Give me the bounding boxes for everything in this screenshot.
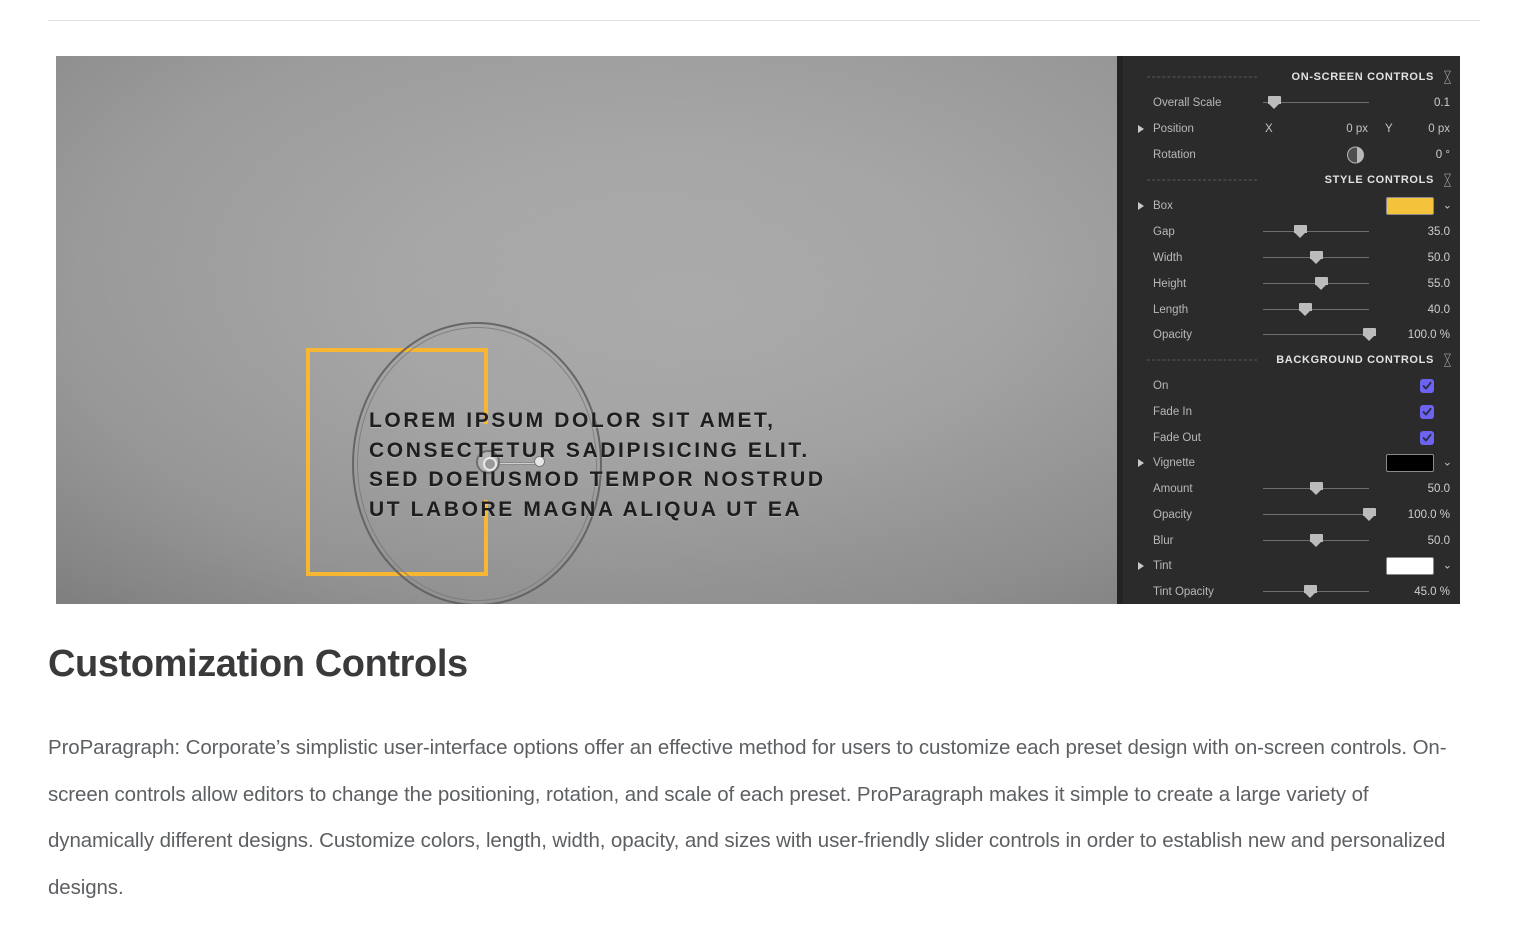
row-fade-out[interactable]: Fade Out xyxy=(1123,425,1460,451)
inspector-body: ON-SCREEN CONTROLS ▽△ Overall Scale 0.1 … xyxy=(1123,56,1460,604)
row-value[interactable]: 0 ° xyxy=(1436,149,1450,161)
chevron-down-icon[interactable]: ⌄ xyxy=(1443,457,1452,468)
fade-out-checkbox[interactable] xyxy=(1420,431,1434,445)
length-slider[interactable] xyxy=(1263,303,1369,317)
disclosure-triangle-icon[interactable] xyxy=(1138,202,1144,210)
row-value[interactable]: 0.1 xyxy=(1434,97,1450,109)
row-on[interactable]: On xyxy=(1123,373,1460,399)
row-label: Opacity xyxy=(1153,509,1192,521)
row-value[interactable]: 40.0 xyxy=(1428,304,1450,316)
chevron-down-icon[interactable]: ⌄ xyxy=(1443,200,1452,211)
inspector-panel: ON-SCREEN CONTROLS ▽△ Overall Scale 0.1 … xyxy=(1117,56,1460,604)
preview-text-line: LOREM IPSUM DOLOR SIT AMET, xyxy=(369,406,989,436)
section-header-background-controls[interactable]: BACKGROUND CONTROLS ▽△ xyxy=(1123,347,1460,373)
row-label: Position xyxy=(1153,123,1194,135)
section-title: ON-SCREEN CONTROLS xyxy=(1292,71,1434,83)
row-label: Rotation xyxy=(1153,149,1196,161)
disclosure-triangle-icon[interactable] xyxy=(1138,125,1144,133)
row-value[interactable]: 45.0 % xyxy=(1414,586,1450,598)
section-header-style-controls[interactable]: STYLE CONTROLS ▽△ xyxy=(1123,167,1460,193)
row-value[interactable]: 50.0 xyxy=(1428,535,1450,547)
position-y-value[interactable]: 0 px xyxy=(1428,123,1450,135)
row-label: Fade In xyxy=(1153,406,1192,418)
section-rule xyxy=(1147,359,1257,360)
row-label: Amount xyxy=(1153,483,1193,495)
row-value[interactable]: 100.0 % xyxy=(1408,329,1450,341)
row-label: Length xyxy=(1153,304,1188,316)
row-value[interactable]: 55.0 xyxy=(1428,278,1450,290)
row-value[interactable]: 50.0 xyxy=(1428,483,1450,495)
row-value[interactable]: 100.0 % xyxy=(1408,509,1450,521)
preview-text-line: CONSECTETUR SADIPISICING ELIT. xyxy=(369,436,989,466)
page-title: Customization Controls xyxy=(48,643,468,686)
row-label: Gap xyxy=(1153,226,1175,238)
row-box[interactable]: Box ⌄ xyxy=(1123,193,1460,219)
row-tint-opacity[interactable]: Tint Opacity 45.0 % xyxy=(1123,579,1460,604)
preview-text-line: UT LABORE MAGNA ALIQUA UT EA xyxy=(369,495,989,525)
row-fade-in[interactable]: Fade In xyxy=(1123,399,1460,425)
overall-scale-slider[interactable] xyxy=(1263,96,1369,110)
row-tint[interactable]: Tint ⌄ xyxy=(1123,553,1460,579)
preview-text-block: LOREM IPSUM DOLOR SIT AMET, CONSECTETUR … xyxy=(369,406,989,524)
fade-in-checkbox[interactable] xyxy=(1420,405,1434,419)
section-header-on-screen-controls[interactable]: ON-SCREEN CONTROLS ▽△ xyxy=(1123,64,1460,90)
position-x-value[interactable]: 0 px xyxy=(1308,123,1368,135)
row-label: Tint xyxy=(1153,560,1172,572)
background-opacity-slider[interactable] xyxy=(1263,508,1369,522)
height-slider[interactable] xyxy=(1263,277,1369,291)
gap-slider[interactable] xyxy=(1263,225,1369,239)
row-value[interactable]: 50.0 xyxy=(1428,252,1450,264)
row-label: Blur xyxy=(1153,535,1173,547)
row-blur[interactable]: Blur 50.0 xyxy=(1123,528,1460,554)
row-width[interactable]: Width 50.0 xyxy=(1123,245,1460,271)
row-label: Vignette xyxy=(1153,457,1195,469)
blur-slider[interactable] xyxy=(1263,534,1369,548)
row-label: Width xyxy=(1153,252,1182,264)
preview-image: LOREM IPSUM DOLOR SIT AMET, CONSECTETUR … xyxy=(56,56,1460,604)
row-overall-scale[interactable]: Overall Scale 0.1 xyxy=(1123,90,1460,116)
chevron-down-icon[interactable]: ⌄ xyxy=(1443,560,1452,571)
tint-opacity-slider[interactable] xyxy=(1263,585,1369,599)
section-rule xyxy=(1147,76,1257,77)
row-vignette[interactable]: Vignette ⌄ xyxy=(1123,450,1460,476)
row-label: Overall Scale xyxy=(1153,97,1221,109)
row-value[interactable]: 35.0 xyxy=(1428,226,1450,238)
rotation-dial[interactable] xyxy=(1347,146,1364,163)
section-title: STYLE CONTROLS xyxy=(1325,174,1434,186)
vignette-color-swatch[interactable] xyxy=(1386,454,1434,472)
chevron-updown-icon[interactable]: ▽△ xyxy=(1443,173,1452,186)
opacity-slider[interactable] xyxy=(1263,328,1369,342)
row-label: Box xyxy=(1153,200,1173,212)
amount-slider[interactable] xyxy=(1263,482,1369,496)
preview-text-line: SED DOEIUSMOD TEMPOR NOSTRUD xyxy=(369,465,989,495)
row-opacity-background[interactable]: Opacity 100.0 % xyxy=(1123,502,1460,528)
position-y-label: Y xyxy=(1385,123,1393,135)
row-label: Tint Opacity xyxy=(1153,586,1214,598)
chevron-updown-icon[interactable]: ▽△ xyxy=(1443,353,1452,366)
row-amount[interactable]: Amount 50.0 xyxy=(1123,476,1460,502)
article-body: ProParagraph: Corporate’s simplistic use… xyxy=(48,725,1468,911)
row-opacity-style[interactable]: Opacity 100.0 % xyxy=(1123,322,1460,348)
row-position[interactable]: Position X 0 px Y 0 px xyxy=(1123,116,1460,142)
disclosure-triangle-icon[interactable] xyxy=(1138,459,1144,467)
row-rotation[interactable]: Rotation 0 ° xyxy=(1123,142,1460,168)
box-color-swatch[interactable] xyxy=(1386,197,1434,215)
width-slider[interactable] xyxy=(1263,251,1369,265)
row-gap[interactable]: Gap 35.0 xyxy=(1123,219,1460,245)
row-label: Height xyxy=(1153,278,1186,290)
row-length[interactable]: Length 40.0 xyxy=(1123,297,1460,323)
disclosure-triangle-icon[interactable] xyxy=(1138,562,1144,570)
row-label: On xyxy=(1153,380,1168,392)
row-label: Opacity xyxy=(1153,329,1192,341)
chevron-updown-icon[interactable]: ▽△ xyxy=(1443,70,1452,83)
row-label: Fade Out xyxy=(1153,432,1201,444)
row-height[interactable]: Height 55.0 xyxy=(1123,271,1460,297)
top-divider xyxy=(48,20,1480,21)
on-checkbox[interactable] xyxy=(1420,379,1434,393)
section-rule xyxy=(1147,179,1257,180)
page-root: LOREM IPSUM DOLOR SIT AMET, CONSECTETUR … xyxy=(0,0,1524,948)
section-title: BACKGROUND CONTROLS xyxy=(1276,354,1434,366)
tint-color-swatch[interactable] xyxy=(1386,557,1434,575)
position-x-label: X xyxy=(1265,123,1273,135)
